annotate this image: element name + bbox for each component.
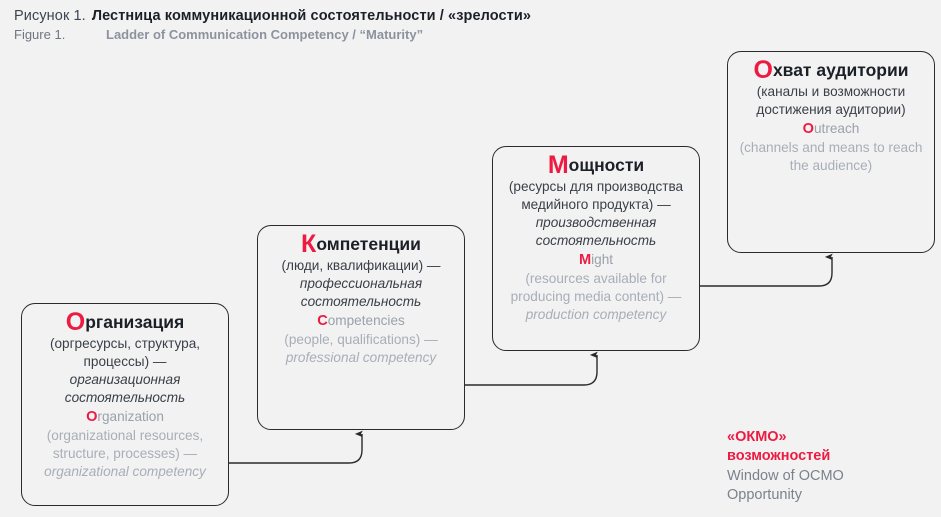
okmo-en-line-1: Window of OCMO xyxy=(727,467,927,486)
step-box-competencies: Компетенции (люди, квалификации) — профе… xyxy=(257,225,465,430)
box-heading-rest: омпетенции xyxy=(316,234,421,254)
box-en-heading: Outreach xyxy=(738,120,924,140)
box-en-description: (organizational resources, structure, pr… xyxy=(32,427,218,463)
arrow-organization-to-competencies xyxy=(229,434,362,463)
step-box-organization: Организация (оргресурсы, структура, проц… xyxy=(21,303,229,506)
box-ru-description: (ресурсы для производства медийного прод… xyxy=(503,178,689,214)
box-en-heading: Competencies xyxy=(268,312,454,332)
box-heading-rest: хват аудитории xyxy=(773,60,909,80)
accent-initial: М xyxy=(548,151,569,179)
box-heading-competencies: Компетенции xyxy=(268,234,454,256)
box-en-term: organizational competency xyxy=(32,463,218,481)
figure-header: Рисунок 1. Лестница коммуникационной сос… xyxy=(14,8,924,42)
box-ru-term: профессиональная состоятельность xyxy=(268,275,454,311)
box-en-heading-rest: ompetencies xyxy=(328,313,405,328)
figure-title-ru: Лестница коммуникационной состоятельност… xyxy=(92,8,531,24)
accent-initial-en: O xyxy=(803,121,814,137)
accent-initial: О xyxy=(753,56,772,84)
arrow-might-to-outreach xyxy=(700,257,832,286)
box-heading-organization: Организация xyxy=(32,312,218,334)
box-en-heading-rest: rganization xyxy=(97,409,164,424)
step-box-might: Мощности (ресурсы для производства медий… xyxy=(492,146,700,351)
accent-initial: О xyxy=(66,308,85,336)
box-ru-description: (каналы и возможности достижения аудитор… xyxy=(738,83,924,119)
figure-number-ru: Рисунок 1. xyxy=(14,8,86,24)
figure-canvas: Рисунок 1. Лестница коммуникационной сос… xyxy=(0,0,941,517)
box-ru-description: (люди, квалификации) — xyxy=(268,257,454,275)
figure-title-en: Ladder of Communication Competency / “Ma… xyxy=(106,27,423,42)
box-heading-outreach: Охват аудитории xyxy=(738,60,924,82)
box-en-heading: Might xyxy=(503,251,689,271)
accent-initial-en: M xyxy=(579,252,591,268)
box-en-heading-rest: utreach xyxy=(814,121,859,136)
accent-initial-en: C xyxy=(317,313,328,329)
box-en-description: (resources available for producing media… xyxy=(503,270,689,306)
box-en-description: (channels and means to reach the audienc… xyxy=(738,139,924,175)
box-ru-description: (оргресурсы, структура, процессы) — xyxy=(32,335,218,371)
accent-initial: К xyxy=(301,230,316,258)
box-en-heading: Organization xyxy=(32,408,218,428)
box-en-term: production competency xyxy=(503,306,689,324)
box-ru-term: организационная состоятельность xyxy=(32,371,218,407)
box-en-heading-rest: ight xyxy=(591,252,613,267)
okmo-caption: «ОКМО» возможностей Window of OCMO Oppor… xyxy=(727,428,927,505)
okmo-ru-line-2: возможностей xyxy=(727,447,927,466)
figure-caption-en: Figure 1. Ladder of Communication Compet… xyxy=(14,27,924,42)
figure-number-en: Figure 1. xyxy=(14,27,100,42)
arrow-competencies-to-might xyxy=(465,355,597,385)
box-heading-rest: рганизация xyxy=(85,312,184,332)
okmo-en-line-2: Opportunity xyxy=(727,486,927,505)
box-heading-rest: ощности xyxy=(569,155,645,175)
box-heading-might: Мощности xyxy=(503,155,689,177)
box-ru-term: производственная состоятельность xyxy=(503,214,689,250)
accent-initial-en: O xyxy=(86,409,97,425)
okmo-ru-line-1: «ОКМО» xyxy=(727,428,927,447)
step-box-outreach: Охват аудитории (каналы и возможности до… xyxy=(727,51,935,253)
box-en-term: professional competency xyxy=(268,349,454,367)
box-en-description: (people, qualifications) — xyxy=(268,331,454,349)
figure-caption-ru: Рисунок 1. Лестница коммуникационной сос… xyxy=(14,8,924,24)
